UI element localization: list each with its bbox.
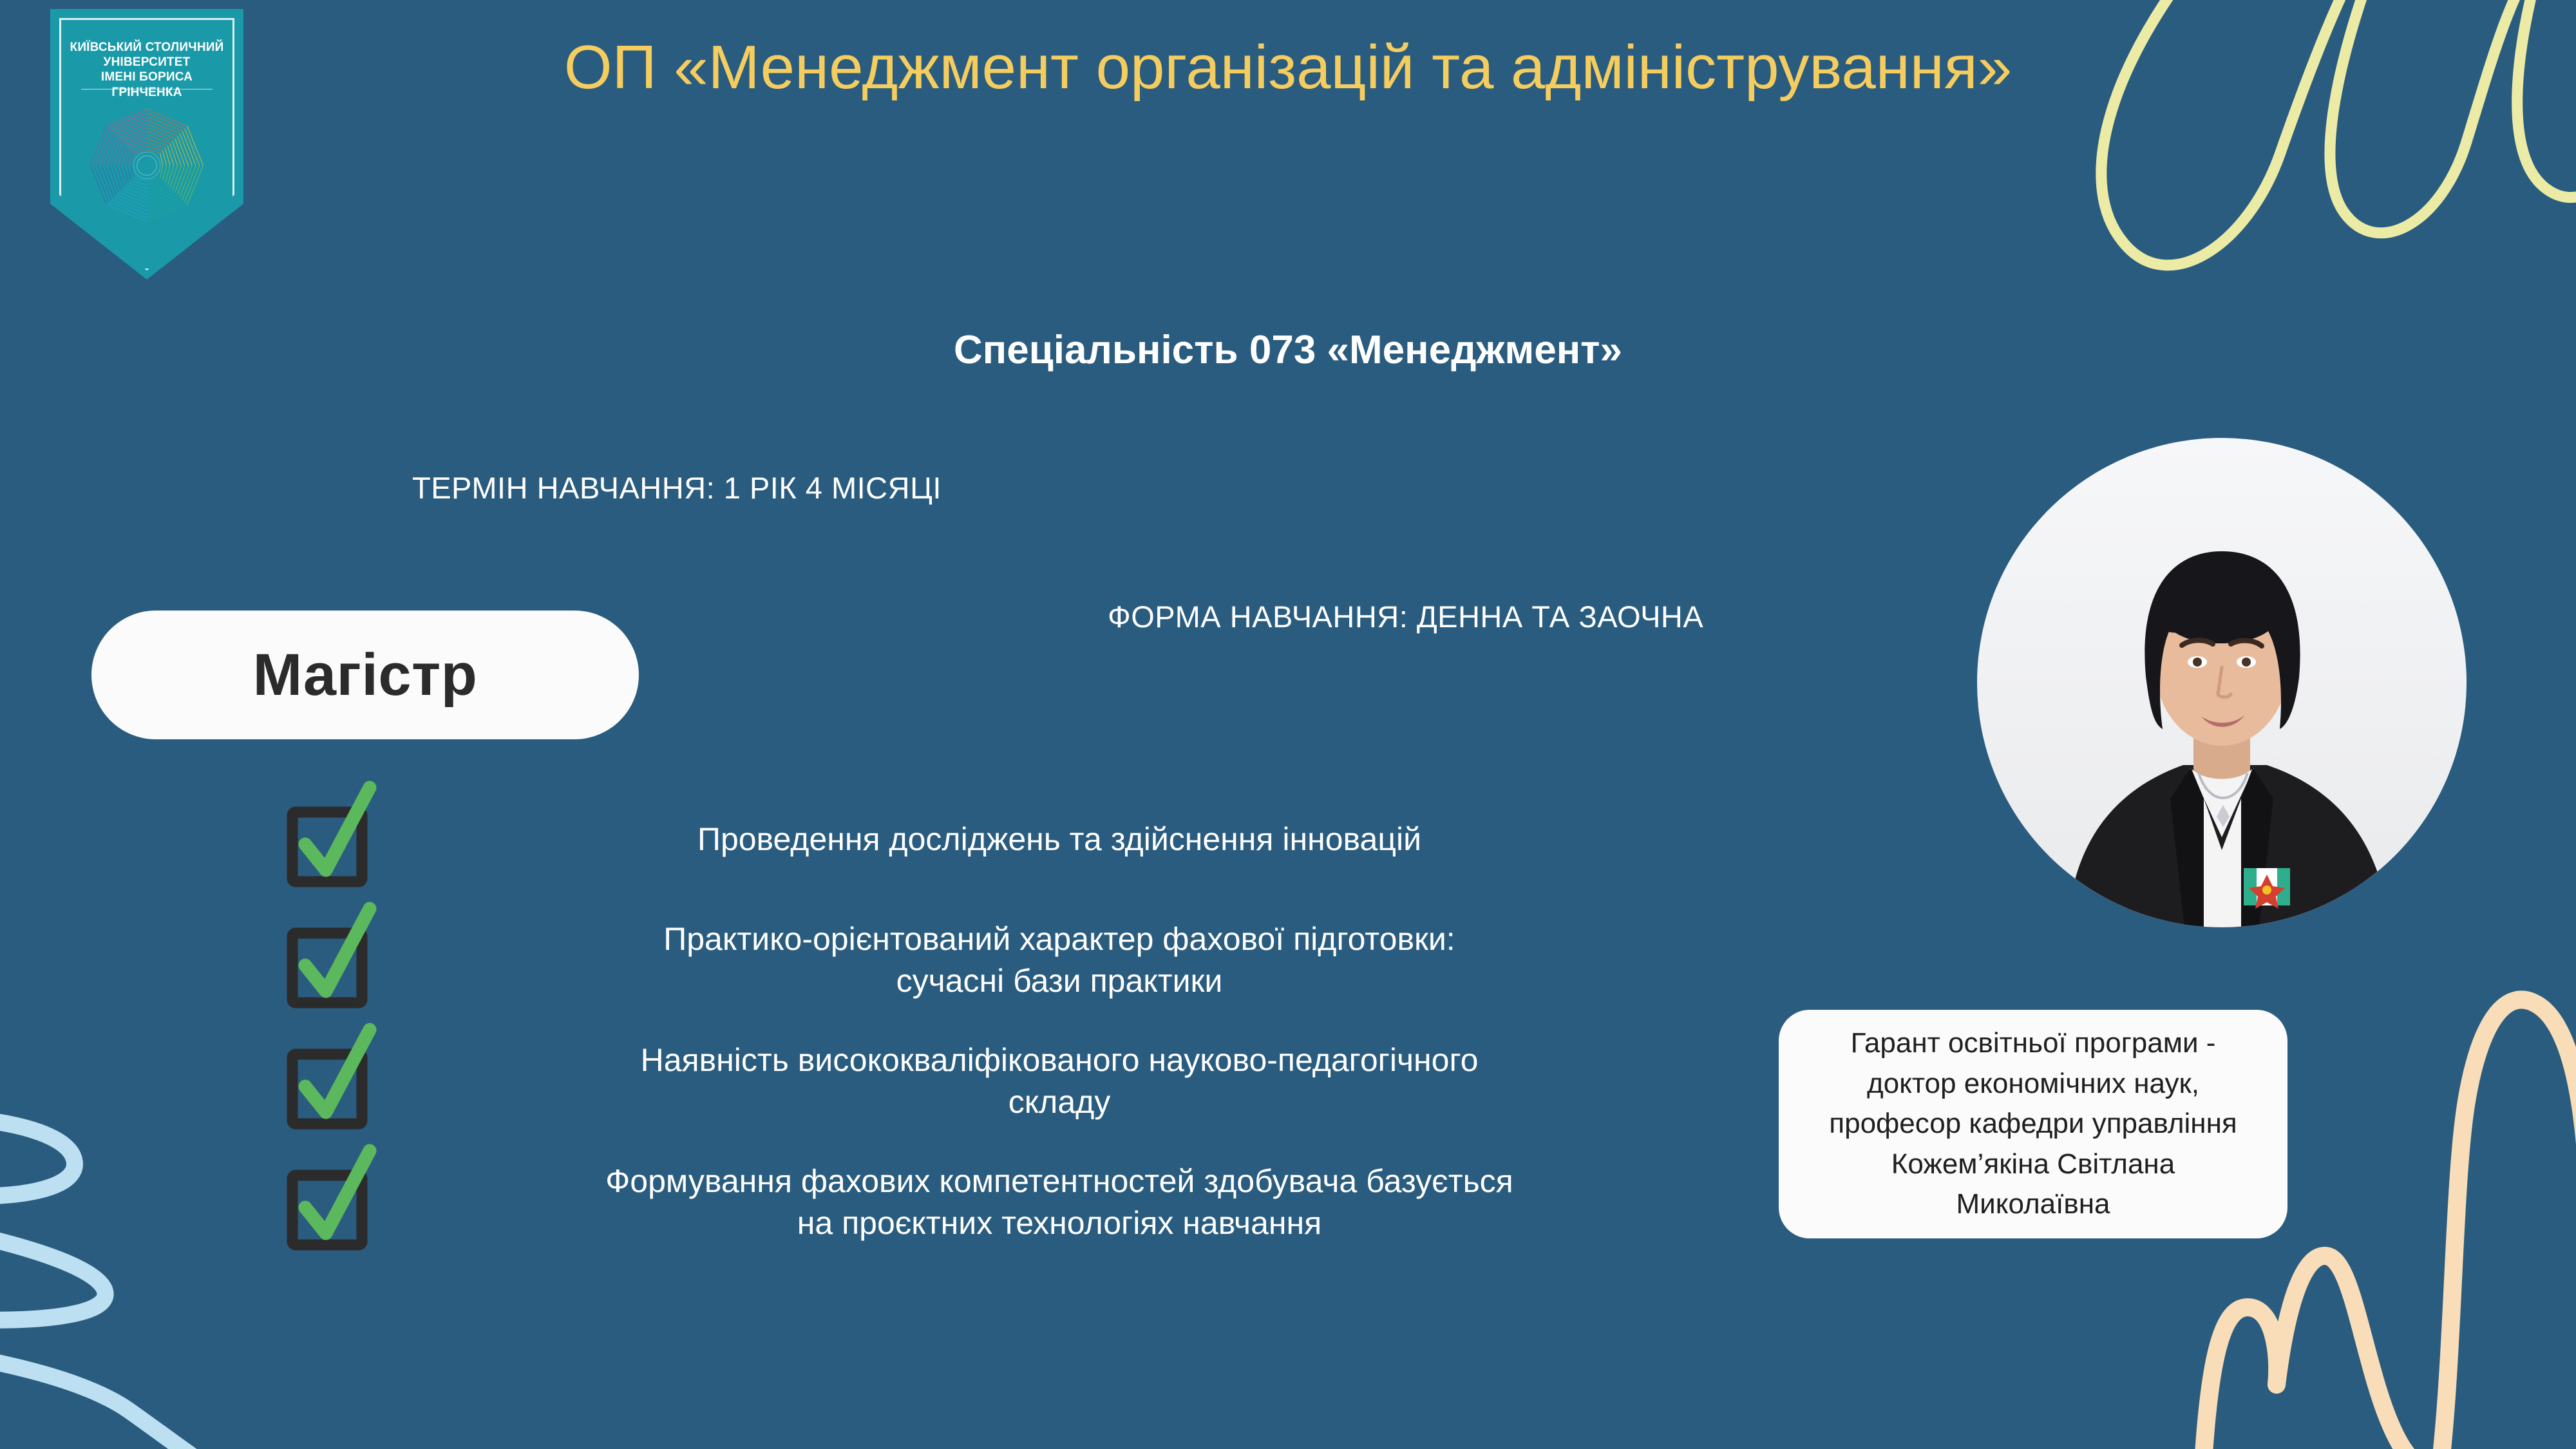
feature-list: Проведення досліджень та здійснення інно… — [283, 789, 1765, 1273]
checkbox-checked-icon — [283, 914, 380, 1010]
list-item-line-2: складу — [393, 1081, 1726, 1123]
list-item-text: Формування фахових компетентностей здобу… — [380, 1160, 1765, 1244]
list-item-line-1: Наявність висококваліфікованого науково-… — [641, 1042, 1479, 1078]
squiggle-topright-icon — [1977, 0, 2576, 335]
list-item: Практико-орієнтований характер фахової п… — [283, 910, 1765, 1010]
avatar — [1977, 438, 2467, 927]
guarantor-info-text: Гарант освітньої програми - доктор еконо… — [1829, 1023, 2237, 1224]
logo-name-line-2: ІМЕНІ БОРИСА ГРІНЧЕНКА — [67, 70, 227, 99]
slide-root: КИЇВСЬКИЙ СТОЛИЧНИЙ УНІВЕРСИТЕТ ІМЕНІ БО… — [0, 0, 2576, 1449]
degree-badge-label: Магістр — [253, 641, 478, 709]
list-item-text: Проведення досліджень та здійснення інно… — [380, 819, 1765, 860]
checkbox-checked-icon — [283, 1156, 380, 1253]
logo-name-text: КИЇВСЬКИЙ СТОЛИЧНИЙ УНІВЕРСИТЕТ ІМЕНІ БО… — [67, 40, 227, 100]
list-item-line-2: сучасні бази практики — [393, 960, 1726, 1002]
list-item-line-1: Проведення досліджень та здійснення інно… — [697, 821, 1421, 857]
list-item-line-1: Практико-орієнтований характер фахової п… — [663, 921, 1455, 957]
list-item: Проведення досліджень та здійснення інно… — [283, 789, 1765, 889]
list-item-text: Практико-орієнтований характер фахової п… — [380, 918, 1765, 1002]
list-item-text: Наявність висококваліфікованого науково-… — [380, 1039, 1765, 1123]
list-item: Формування фахових компетентностей здобу… — [283, 1152, 1765, 1253]
logo-name-line-1: КИЇВСЬКИЙ СТОЛИЧНИЙ УНІВЕРСИТЕТ — [67, 40, 227, 70]
list-item-line-2: на проєктних технологіях навчання — [393, 1202, 1726, 1244]
list-item: Наявність висококваліфікованого науково-… — [283, 1031, 1765, 1132]
checkbox-checked-icon — [283, 793, 380, 889]
university-logo: КИЇВСЬКИЙ СТОЛИЧНИЙ УНІВЕРСИТЕТ ІМЕНІ БО… — [50, 9, 243, 279]
degree-badge: Магістр — [91, 611, 639, 739]
spirograph-star-emblem-icon — [86, 104, 208, 227]
duration-info: ТЕРМІН НАВЧАННЯ: 1 РІК 4 МІСЯЦІ — [412, 470, 942, 506]
study-form-info: ФОРМА НАВЧАННЯ: ДЕННА ТА ЗАОЧНА — [1108, 599, 1703, 634]
specialty-subtitle: Спеціальність 073 «Менеджмент» — [554, 327, 2022, 373]
squiggle-bottomleft-icon — [0, 1063, 316, 1449]
checkbox-checked-icon — [283, 1035, 380, 1132]
list-item-line-1: Формування фахових компетентностей здобу… — [605, 1163, 1513, 1199]
page-title: ОП «Менеджмент організацій та адміністру… — [554, 31, 2022, 104]
guarantor-info-card: Гарант освітньої програми - доктор еконо… — [1779, 1010, 2287, 1238]
logo-divider — [81, 89, 213, 90]
